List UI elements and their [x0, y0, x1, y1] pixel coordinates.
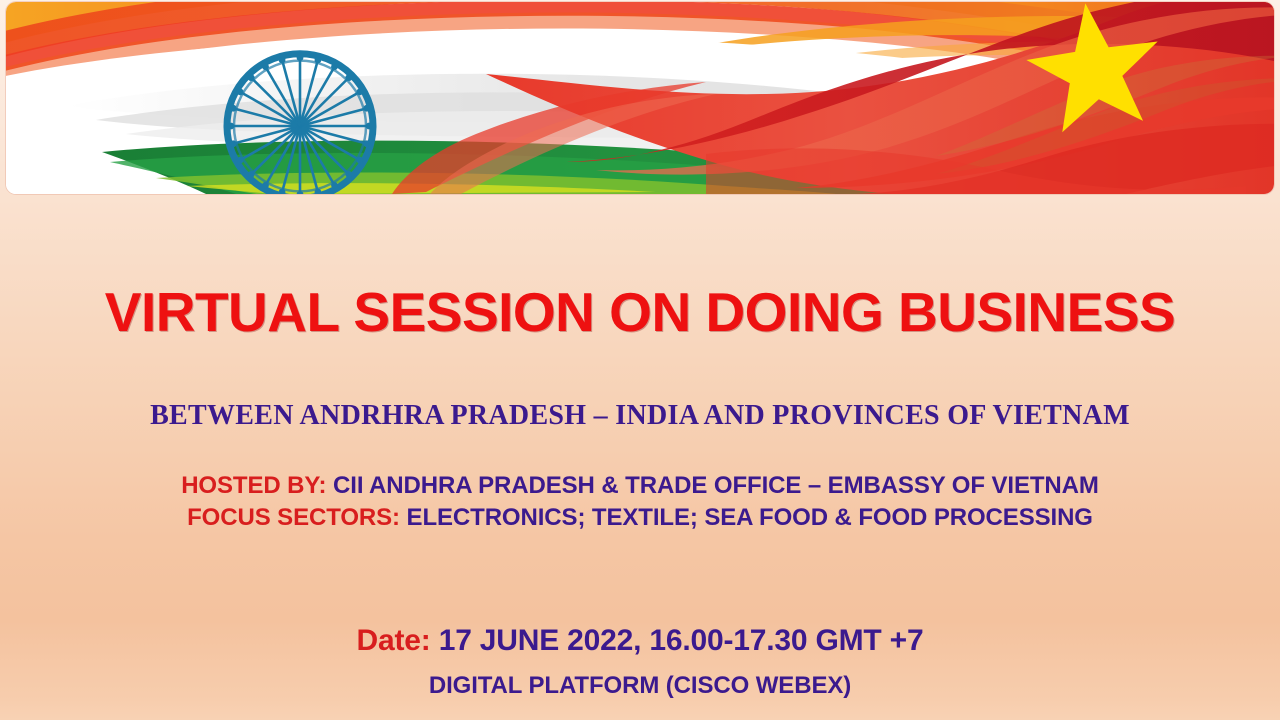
page-title: VIRTUAL SESSION ON DOING BUSINESS: [0, 280, 1280, 344]
hosted-by-line: HOSTED BY: CII ANDHRA PRADESH & TRADE OF…: [0, 472, 1280, 500]
hosted-by-label: HOSTED BY:: [181, 472, 326, 499]
focus-sectors-line: FOCUS SECTORS: ELECTRONICS; TEXTILE; SEA…: [0, 504, 1280, 532]
presentation-slide: VIRTUAL SESSION ON DOING BUSINESS BETWEE…: [0, 0, 1280, 720]
date-line: Date: 17 JUNE 2022, 16.00-17.30 GMT +7: [0, 624, 1280, 658]
date-label: Date:: [357, 624, 431, 657]
subtitle: BETWEEN ANDRHRA PRADESH – INDIA AND PROV…: [0, 400, 1280, 432]
date-value: 17 JUNE 2022, 16.00-17.30 GMT +7: [439, 624, 924, 657]
focus-sectors-value: ELECTRONICS; TEXTILE; SEA FOOD & FOOD PR…: [407, 504, 1093, 531]
hosted-by-value: CII ANDHRA PRADESH & TRADE OFFICE – EMBA…: [333, 472, 1099, 499]
flag-wave-graphic: [6, 2, 1274, 194]
platform-line: DIGITAL PLATFORM (CISCO WEBEX): [0, 672, 1280, 700]
india-vietnam-flag-wave-banner: [6, 2, 1274, 194]
focus-sectors-label: FOCUS SECTORS:: [187, 504, 400, 531]
slide-content: VIRTUAL SESSION ON DOING BUSINESS BETWEE…: [0, 192, 1280, 720]
